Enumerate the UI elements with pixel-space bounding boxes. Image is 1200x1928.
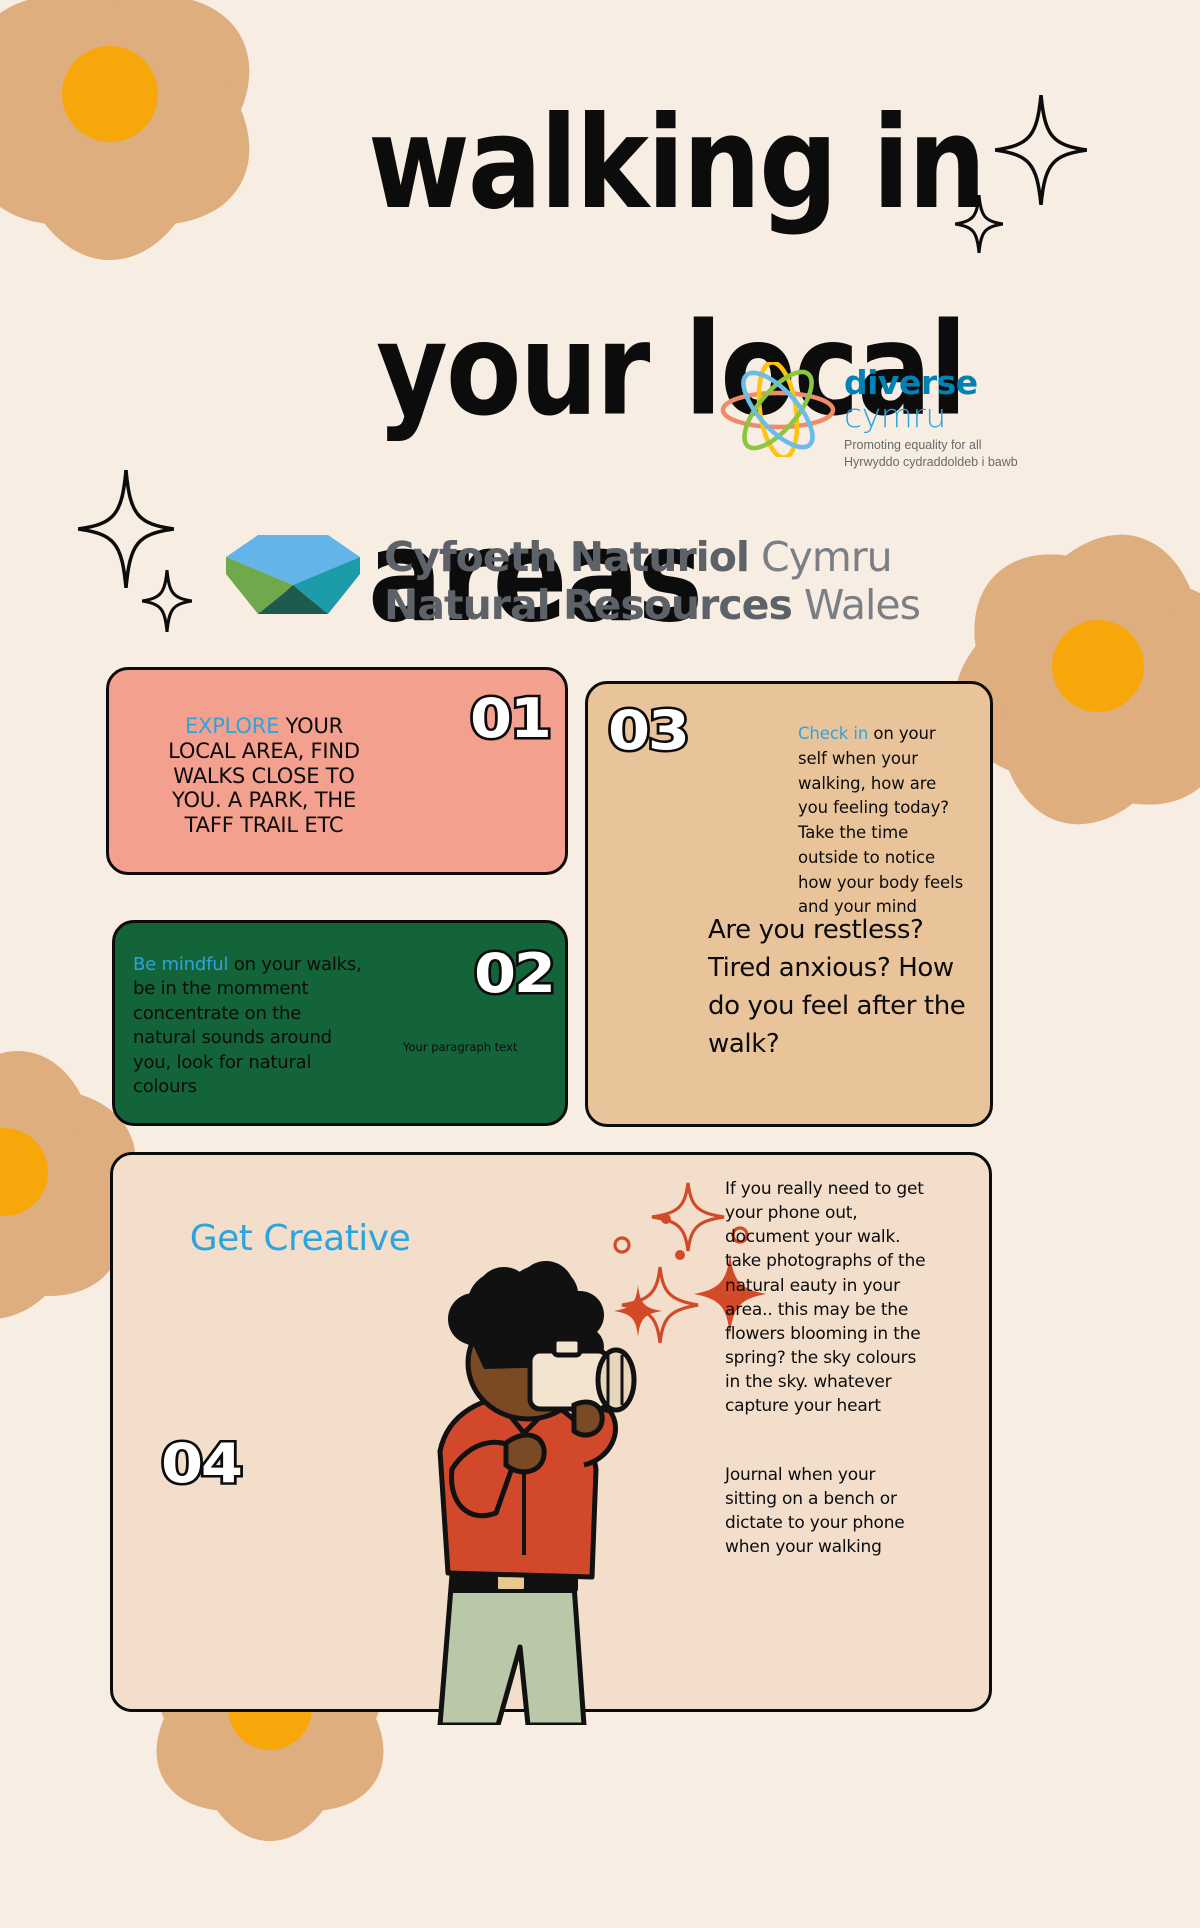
card-03-highlight: Check in [798, 724, 868, 743]
card-03-body: Check in on your self when your walking,… [798, 722, 968, 920]
diverse-cymru-logo: diverse cymru Promoting equality for all… [718, 362, 1058, 462]
card-01-body: EXPLORE YOUR LOCAL AREA, FIND WALKS CLOS… [149, 714, 379, 838]
nrw-hexagon-icon [222, 527, 364, 622]
decorative-flower-top-left [0, 0, 370, 370]
tip-card-04[interactable]: Get Creative 04 [110, 1152, 992, 1712]
card-04-paragraph-1: If you really need to get your phone out… [725, 1177, 930, 1418]
tip-card-01[interactable]: 01 EXPLORE YOUR LOCAL AREA, FIND WALKS C… [106, 667, 568, 875]
photographer-illustration [378, 1255, 668, 1725]
card-03-question: Are you restless? Tired anxious? How do … [708, 912, 978, 1064]
tip-card-03[interactable]: 03 Check in on your self when your walki… [585, 681, 993, 1127]
card-01-highlight: EXPLORE [185, 714, 279, 738]
card-02-number-badge: 02 [474, 947, 554, 1001]
card-03-text: on your self when your walking, how are … [798, 724, 963, 916]
card-04-paragraph-2: Journal when your sitting on a bench or … [725, 1463, 930, 1560]
diverse-word: diverse [844, 366, 1018, 399]
card-03-number-badge: 03 [608, 704, 688, 758]
nrw-wordmark: Cyfoeth Naturiol Cymru Natural Resources… [384, 533, 920, 630]
card-02-highlight: Be mindful [133, 954, 228, 975]
card-02-text: on your walks, be in the momment concent… [133, 954, 362, 1097]
card-02-small-note: Your paragraph text [403, 1040, 517, 1054]
card-01-number-badge: 01 [470, 692, 550, 746]
diverse-cymru-tagline-en: Promoting equality for all [844, 437, 1018, 454]
natural-resources-wales-logo: Cyfoeth Naturiol Cymru Natural Resources… [222, 527, 982, 627]
diverse-cymru-tagline-cy: Hyrwyddo cydraddoldeb i bawb [844, 454, 1018, 471]
sparkle-star-small-icon-2 [142, 570, 192, 632]
diverse-cymru-mark-icon [718, 362, 838, 457]
title-line-1: walking in [368, 62, 1041, 268]
nrw-cymru: Cymru [761, 533, 892, 581]
card-04-number-badge: 04 [161, 1437, 241, 1491]
tip-card-02[interactable]: 02 Be mindful on your walks, be in the m… [112, 920, 568, 1126]
nrw-wales: Wales [804, 581, 920, 629]
nrw-natural-resources: Natural Resources [384, 581, 792, 629]
diverse-cymru-wordmark: diverse cymru Promoting equality for all… [844, 366, 1018, 470]
nrw-cyfoeth-naturiol: Cyfoeth Naturiol [384, 533, 749, 581]
card-02-body: Be mindful on your walks, be in the momm… [133, 953, 363, 1100]
cymru-word: cymru [844, 399, 1018, 434]
poster-canvas: walking in your local areas diverse cymr… [0, 0, 1200, 1698]
